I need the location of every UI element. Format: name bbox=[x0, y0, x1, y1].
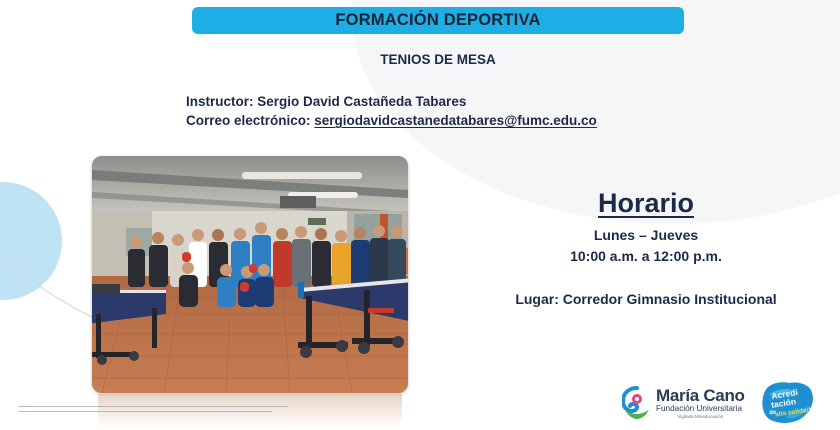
schedule-days: Lunes – Jueves bbox=[452, 227, 840, 243]
schedule-place: Lugar: Corredor Gimnasio Institucional bbox=[452, 291, 840, 307]
accreditation-seal-icon: Acredi tación de alta calidad bbox=[759, 381, 815, 425]
photo-illustration bbox=[92, 156, 408, 393]
maria-cano-text: María Cano Fundación Universitaria Vigil… bbox=[656, 387, 745, 420]
university-subtitle: Fundación Universitaria bbox=[656, 405, 745, 413]
background-footer-lines bbox=[18, 406, 288, 416]
background-blue-circle bbox=[0, 182, 62, 300]
maria-cano-logo: María Cano Fundación Universitaria Vigil… bbox=[622, 386, 745, 420]
page-title: FORMACIÓN DEPORTIVA bbox=[335, 11, 540, 30]
photo-container bbox=[92, 156, 408, 393]
instructor-email-row: Correo electrónico: sergiodavidcastaneda… bbox=[186, 111, 597, 130]
photo-reflection bbox=[98, 394, 402, 428]
title-banner: FORMACIÓN DEPORTIVA bbox=[192, 7, 684, 34]
maria-cano-mark-icon bbox=[622, 386, 652, 420]
page-subtitle: TENIOS DE MESA bbox=[192, 52, 684, 67]
email-label: Correo electrónico: bbox=[186, 113, 314, 128]
schedule-heading: Horario bbox=[452, 190, 840, 217]
schedule-hours: 10:00 a.m. a 12:00 p.m. bbox=[452, 248, 840, 264]
email-link[interactable]: sergiodavidcastanedatabares@fumc.edu.co bbox=[314, 113, 597, 128]
slide-canvas: FORMACIÓN DEPORTIVA TENIOS DE MESA Instr… bbox=[0, 0, 840, 430]
university-name: María Cano bbox=[656, 387, 745, 404]
footer-line-1 bbox=[18, 406, 288, 407]
footer-logos: María Cano Fundación Universitaria Vigil… bbox=[622, 380, 834, 426]
table-tennis-group-photo bbox=[92, 156, 408, 393]
footer-line-2 bbox=[18, 411, 272, 412]
schedule-block: Horario Lunes – Jueves 10:00 a.m. a 12:0… bbox=[452, 190, 840, 264]
university-legal-note: Vigilada Mineducación bbox=[656, 415, 745, 420]
instructor-info: Instructor: Sergio David Castañeda Tabar… bbox=[186, 92, 597, 130]
instructor-name: Instructor: Sergio David Castañeda Tabar… bbox=[186, 92, 597, 111]
